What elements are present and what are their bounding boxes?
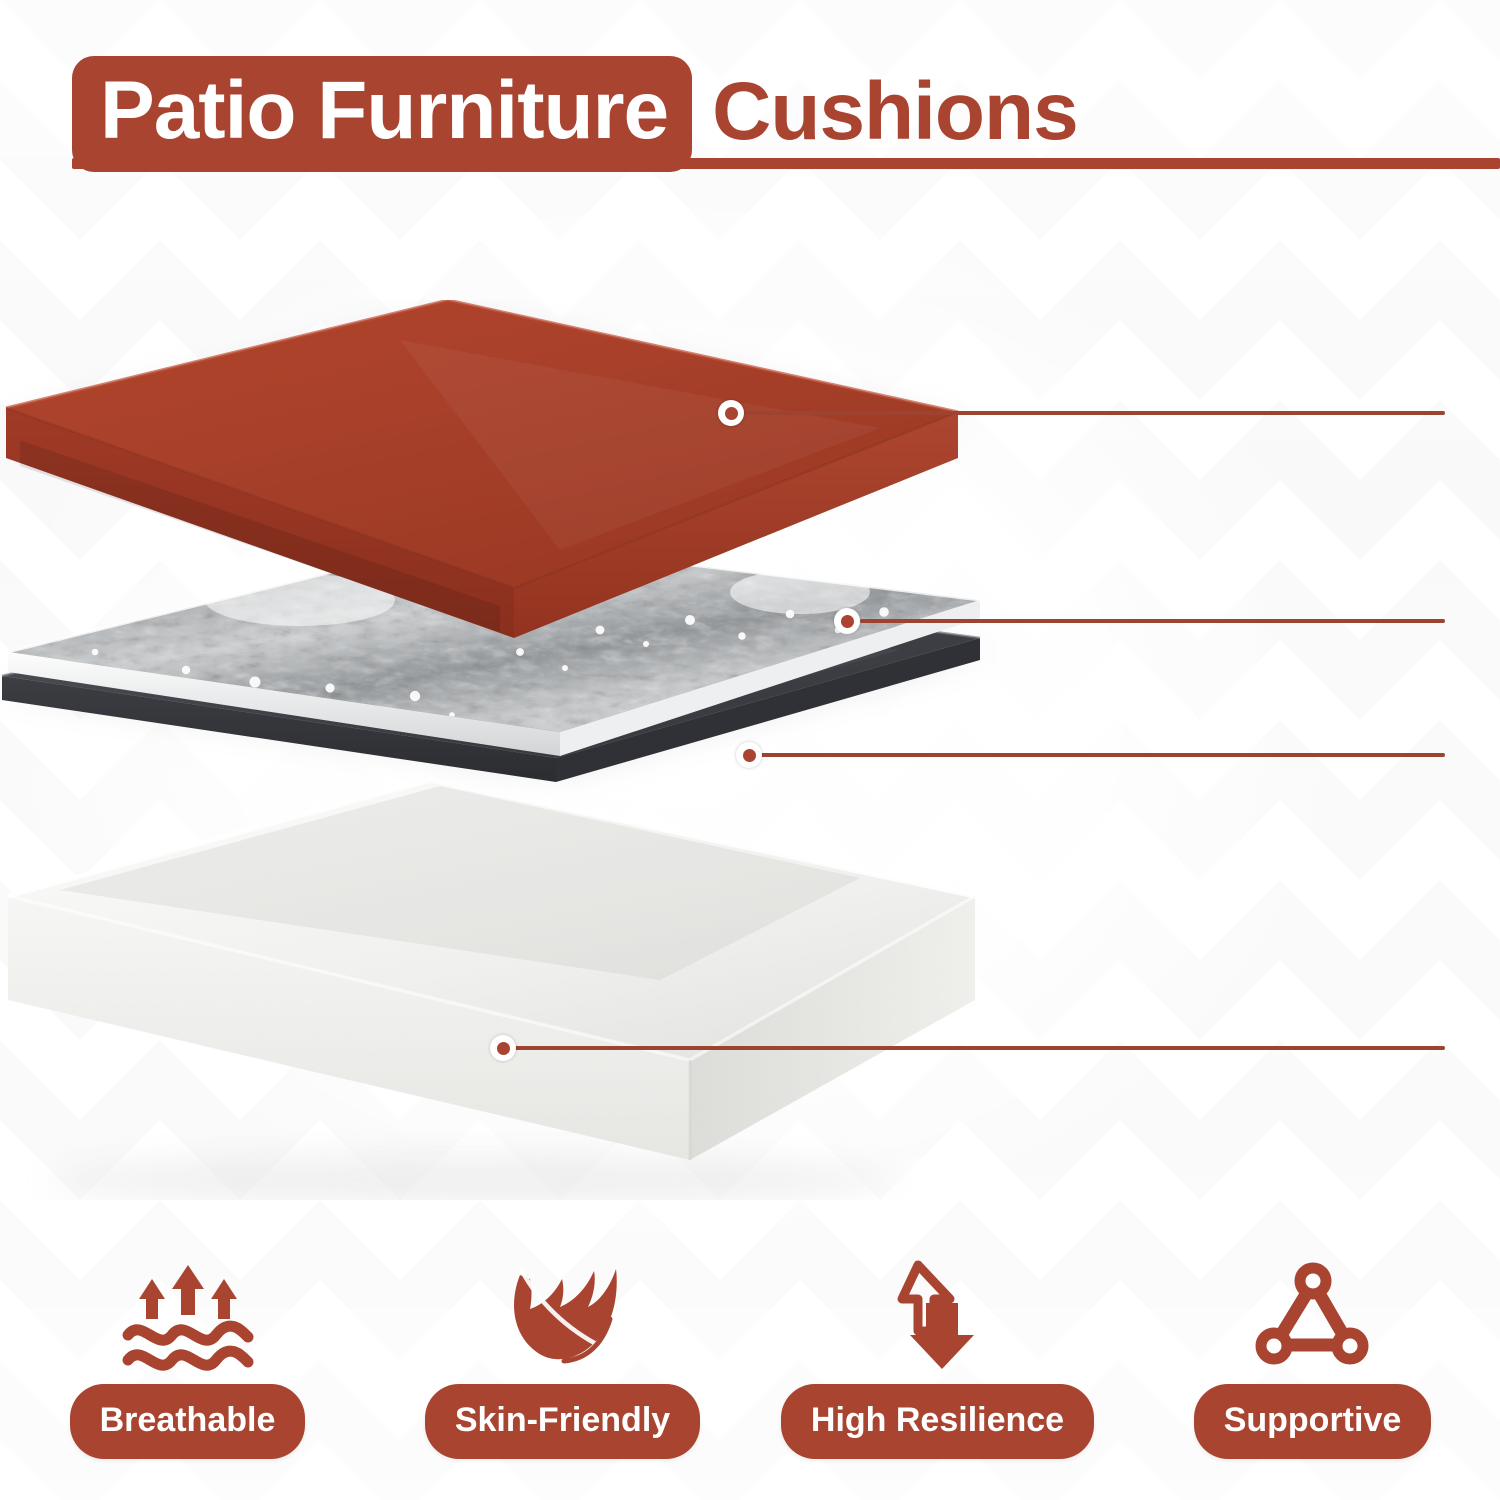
callout-leader-line-liner <box>760 753 1445 757</box>
airflow-waves-icon <box>118 1258 258 1376</box>
layer-foam-block <box>0 770 1000 1200</box>
feature-breathable[interactable]: Breathable <box>23 1258 353 1459</box>
exploded-cushion-stack <box>0 300 1060 1200</box>
feature-label-high-resilience[interactable]: High Resilience <box>781 1384 1094 1459</box>
page-title: Patio Furniture Cushions <box>72 56 1078 172</box>
feature-badge-row: Breathable Skin-Friendly High Resilience <box>0 1258 1500 1488</box>
title-underline-rule <box>72 158 1500 169</box>
callout-marker-liner <box>736 742 762 768</box>
callout-leader-line-waterproof <box>860 619 1445 623</box>
feature-label-skin-friendly[interactable]: Skin-Friendly <box>425 1384 700 1459</box>
callout-marker-foam <box>490 1035 516 1061</box>
title-badge-patio-furniture: Patio Furniture <box>72 56 692 172</box>
feather-icon <box>498 1258 628 1376</box>
feature-label-breathable[interactable]: Breathable <box>70 1384 306 1459</box>
callout-leader-line-foam <box>512 1046 1445 1050</box>
triangle-nodes-icon <box>1251 1258 1375 1376</box>
feature-skin-friendly[interactable]: Skin-Friendly <box>398 1258 728 1459</box>
feature-supportive[interactable]: Supportive <box>1148 1258 1478 1459</box>
callout-marker-waterproof <box>834 608 860 634</box>
feature-label-supportive[interactable]: Supportive <box>1194 1384 1432 1459</box>
title-word-cushions: Cushions <box>692 71 1078 157</box>
feature-high-resilience[interactable]: High Resilience <box>773 1258 1103 1459</box>
header: Patio Furniture Cushions <box>0 0 1500 190</box>
callout-marker-fabric <box>718 400 744 426</box>
callout-leader-line-fabric <box>736 411 1445 415</box>
infographic-canvas: Patio Furniture Cushions <box>0 0 1500 1500</box>
up-down-arrows-icon <box>878 1258 998 1376</box>
